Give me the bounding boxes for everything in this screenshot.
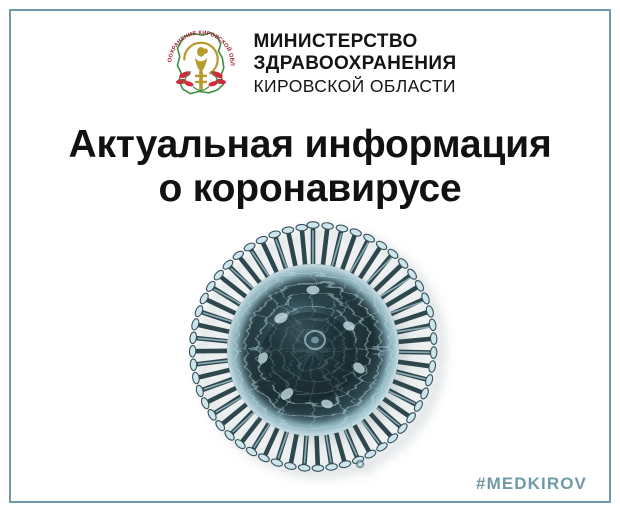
ministry-line-2: ЗДРАВООХРАНЕНИЯ bbox=[253, 53, 456, 75]
kirov-health-ministry-emblem-icon: ЗДРАВООХРАНЕНИЕ КИРОВСКОЙ ОБЛАСТИ bbox=[163, 26, 239, 102]
ministry-line-3: КИРОВСКОЙ ОБЛАСТИ bbox=[253, 75, 456, 98]
svg-text:ЗДРАВООХРАНЕНИЕ КИРОВСКОЙ ОБЛА: ЗДРАВООХРАНЕНИЕ КИРОВСКОЙ ОБЛАСТИ bbox=[163, 26, 235, 66]
page-title: Актуальная информация о коронавирусе bbox=[0, 123, 620, 210]
page-title-line-2: о коронавирусе bbox=[0, 167, 620, 211]
hashtag-medkirov: #MEDKIROV bbox=[476, 474, 587, 494]
poster-canvas: ЗДРАВООХРАНЕНИЕ КИРОВСКОЙ ОБЛАСТИ bbox=[0, 0, 620, 517]
ministry-name-block: МИНИСТЕРСТВО ЗДРАВООХРАНЕНИЯ КИРОВСКОЙ О… bbox=[253, 31, 456, 98]
header: ЗДРАВООХРАНЕНИЕ КИРОВСКОЙ ОБЛАСТИ bbox=[0, 26, 620, 102]
coronavirus-illustration bbox=[163, 208, 463, 486]
ministry-line-1: МИНИСТЕРСТВО bbox=[253, 31, 456, 53]
coronavirus-particle-icon bbox=[163, 208, 463, 486]
logo-lockup: ЗДРАВООХРАНЕНИЕ КИРОВСКОЙ ОБЛАСТИ bbox=[163, 26, 456, 102]
page-title-line-1: Актуальная информация bbox=[0, 123, 620, 167]
